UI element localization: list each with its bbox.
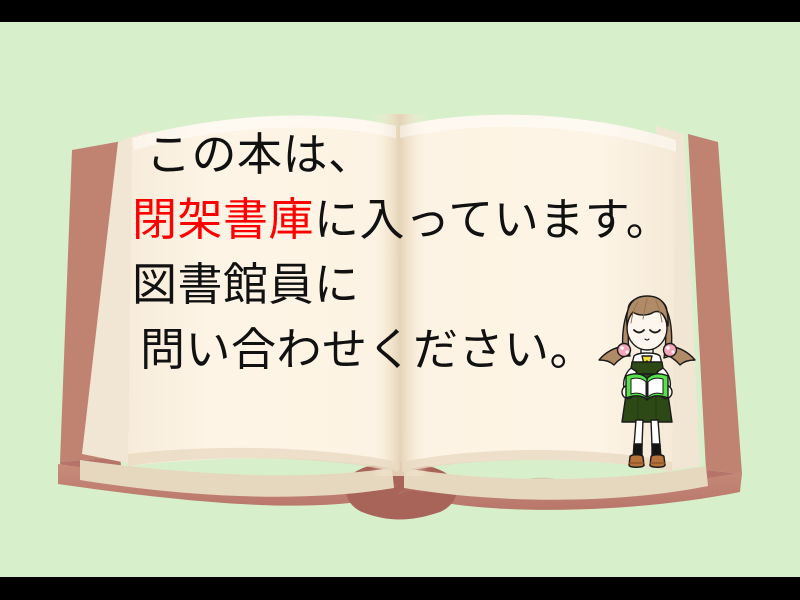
letterbox-bottom — [0, 577, 800, 600]
girl-reading-illustration — [598, 280, 696, 474]
letterbox-top — [0, 0, 800, 22]
slide-canvas: この本は、 閉架書庫に入っています。 図書館員に 問い合わせください。 — [0, 22, 800, 577]
notice-line-2-rest: に入っています。 — [314, 193, 671, 246]
slide-stage: この本は、 閉架書庫に入っています。 図書館員に 問い合わせください。 — [0, 0, 800, 600]
notice-line-2: 閉架書庫に入っています。 — [132, 187, 692, 252]
notice-line-1-text: この本は、 — [146, 128, 374, 181]
notice-line-1: この本は、 — [132, 122, 692, 187]
hairtie-right — [664, 344, 677, 357]
hairtie-left — [618, 344, 631, 357]
notice-line-4-text: 問い合わせください。 — [140, 323, 595, 376]
held-book — [626, 374, 668, 400]
closed-stacks-highlight: 閉架書庫 — [132, 193, 314, 246]
notice-line-3-text: 図書館員に — [132, 258, 360, 311]
